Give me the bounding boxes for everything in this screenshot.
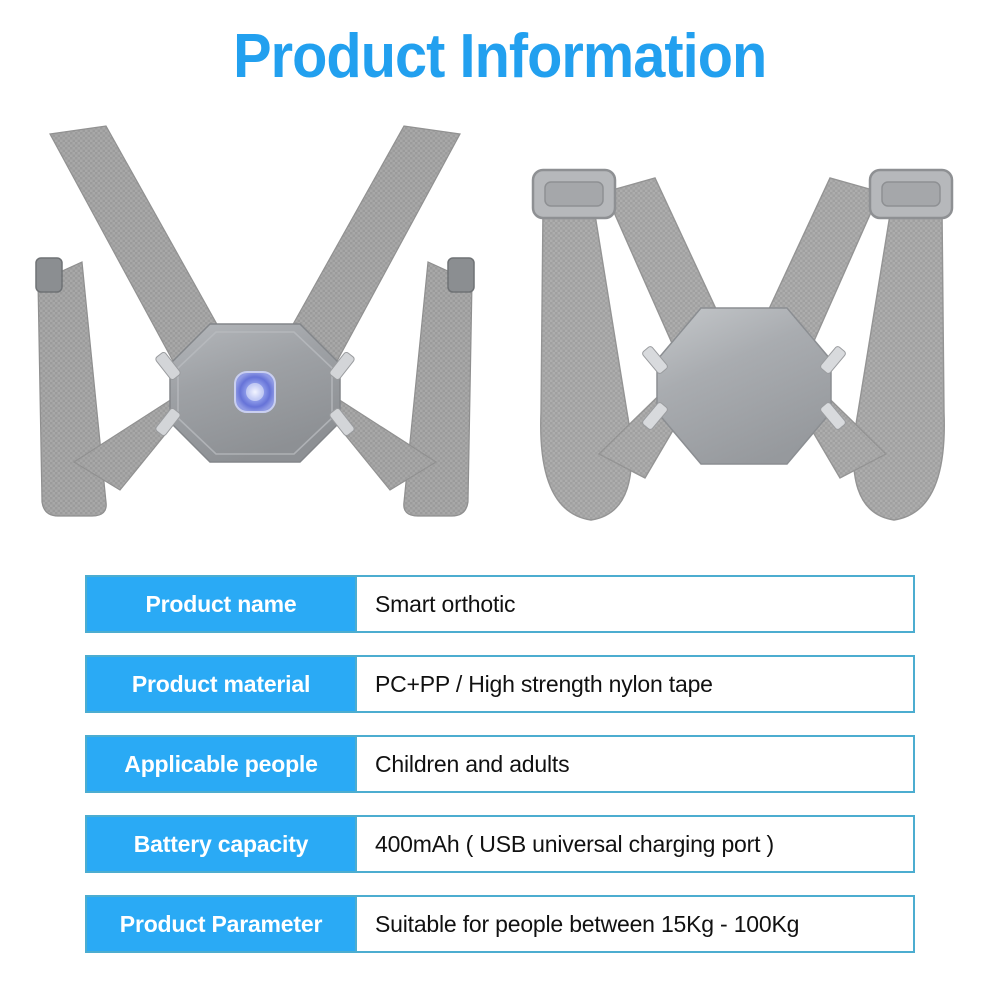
- strap-buckle-left: [36, 258, 62, 292]
- adjuster-buckle-right: [870, 170, 952, 218]
- strap-loop-left: [541, 190, 632, 520]
- spec-value-product-material: PC+PP / High strength nylon tape: [355, 657, 913, 711]
- specification-table: Product name Smart orthotic Product mate…: [85, 575, 915, 953]
- device-hub-back: [657, 308, 831, 464]
- spec-label-applicable-people: Applicable people: [87, 737, 355, 791]
- strap-outer-right: [404, 262, 472, 516]
- spec-value-battery-capacity: 400mAh ( USB universal charging port ): [355, 817, 913, 871]
- spec-label-product-parameter: Product Parameter: [87, 897, 355, 951]
- page-header: Product Information: [0, 26, 1000, 88]
- table-row: Product name Smart orthotic: [85, 575, 915, 633]
- table-row: Applicable people Children and adults: [85, 735, 915, 793]
- product-image-gallery: [0, 112, 1000, 557]
- spec-value-product-name: Smart orthotic: [355, 577, 913, 631]
- power-button-highlight: [246, 383, 264, 401]
- spec-value-applicable-people: Children and adults: [355, 737, 913, 791]
- spec-value-product-parameter: Suitable for people between 15Kg - 100Kg: [355, 897, 913, 951]
- spec-label-product-material: Product material: [87, 657, 355, 711]
- product-photo-back: [495, 112, 990, 557]
- strap-loop-right: [854, 190, 945, 520]
- strap-outer-left: [38, 262, 106, 516]
- strap-buckle-right: [448, 258, 474, 292]
- spec-label-battery-capacity: Battery capacity: [87, 817, 355, 871]
- adjuster-buckle-left: [533, 170, 615, 218]
- table-row: Product Parameter Suitable for people be…: [85, 895, 915, 953]
- product-photo-front: [10, 112, 500, 557]
- spec-label-product-name: Product name: [87, 577, 355, 631]
- page-title: Product Information: [233, 26, 766, 88]
- table-row: Product material PC+PP / High strength n…: [85, 655, 915, 713]
- table-row: Battery capacity 400mAh ( USB universal …: [85, 815, 915, 873]
